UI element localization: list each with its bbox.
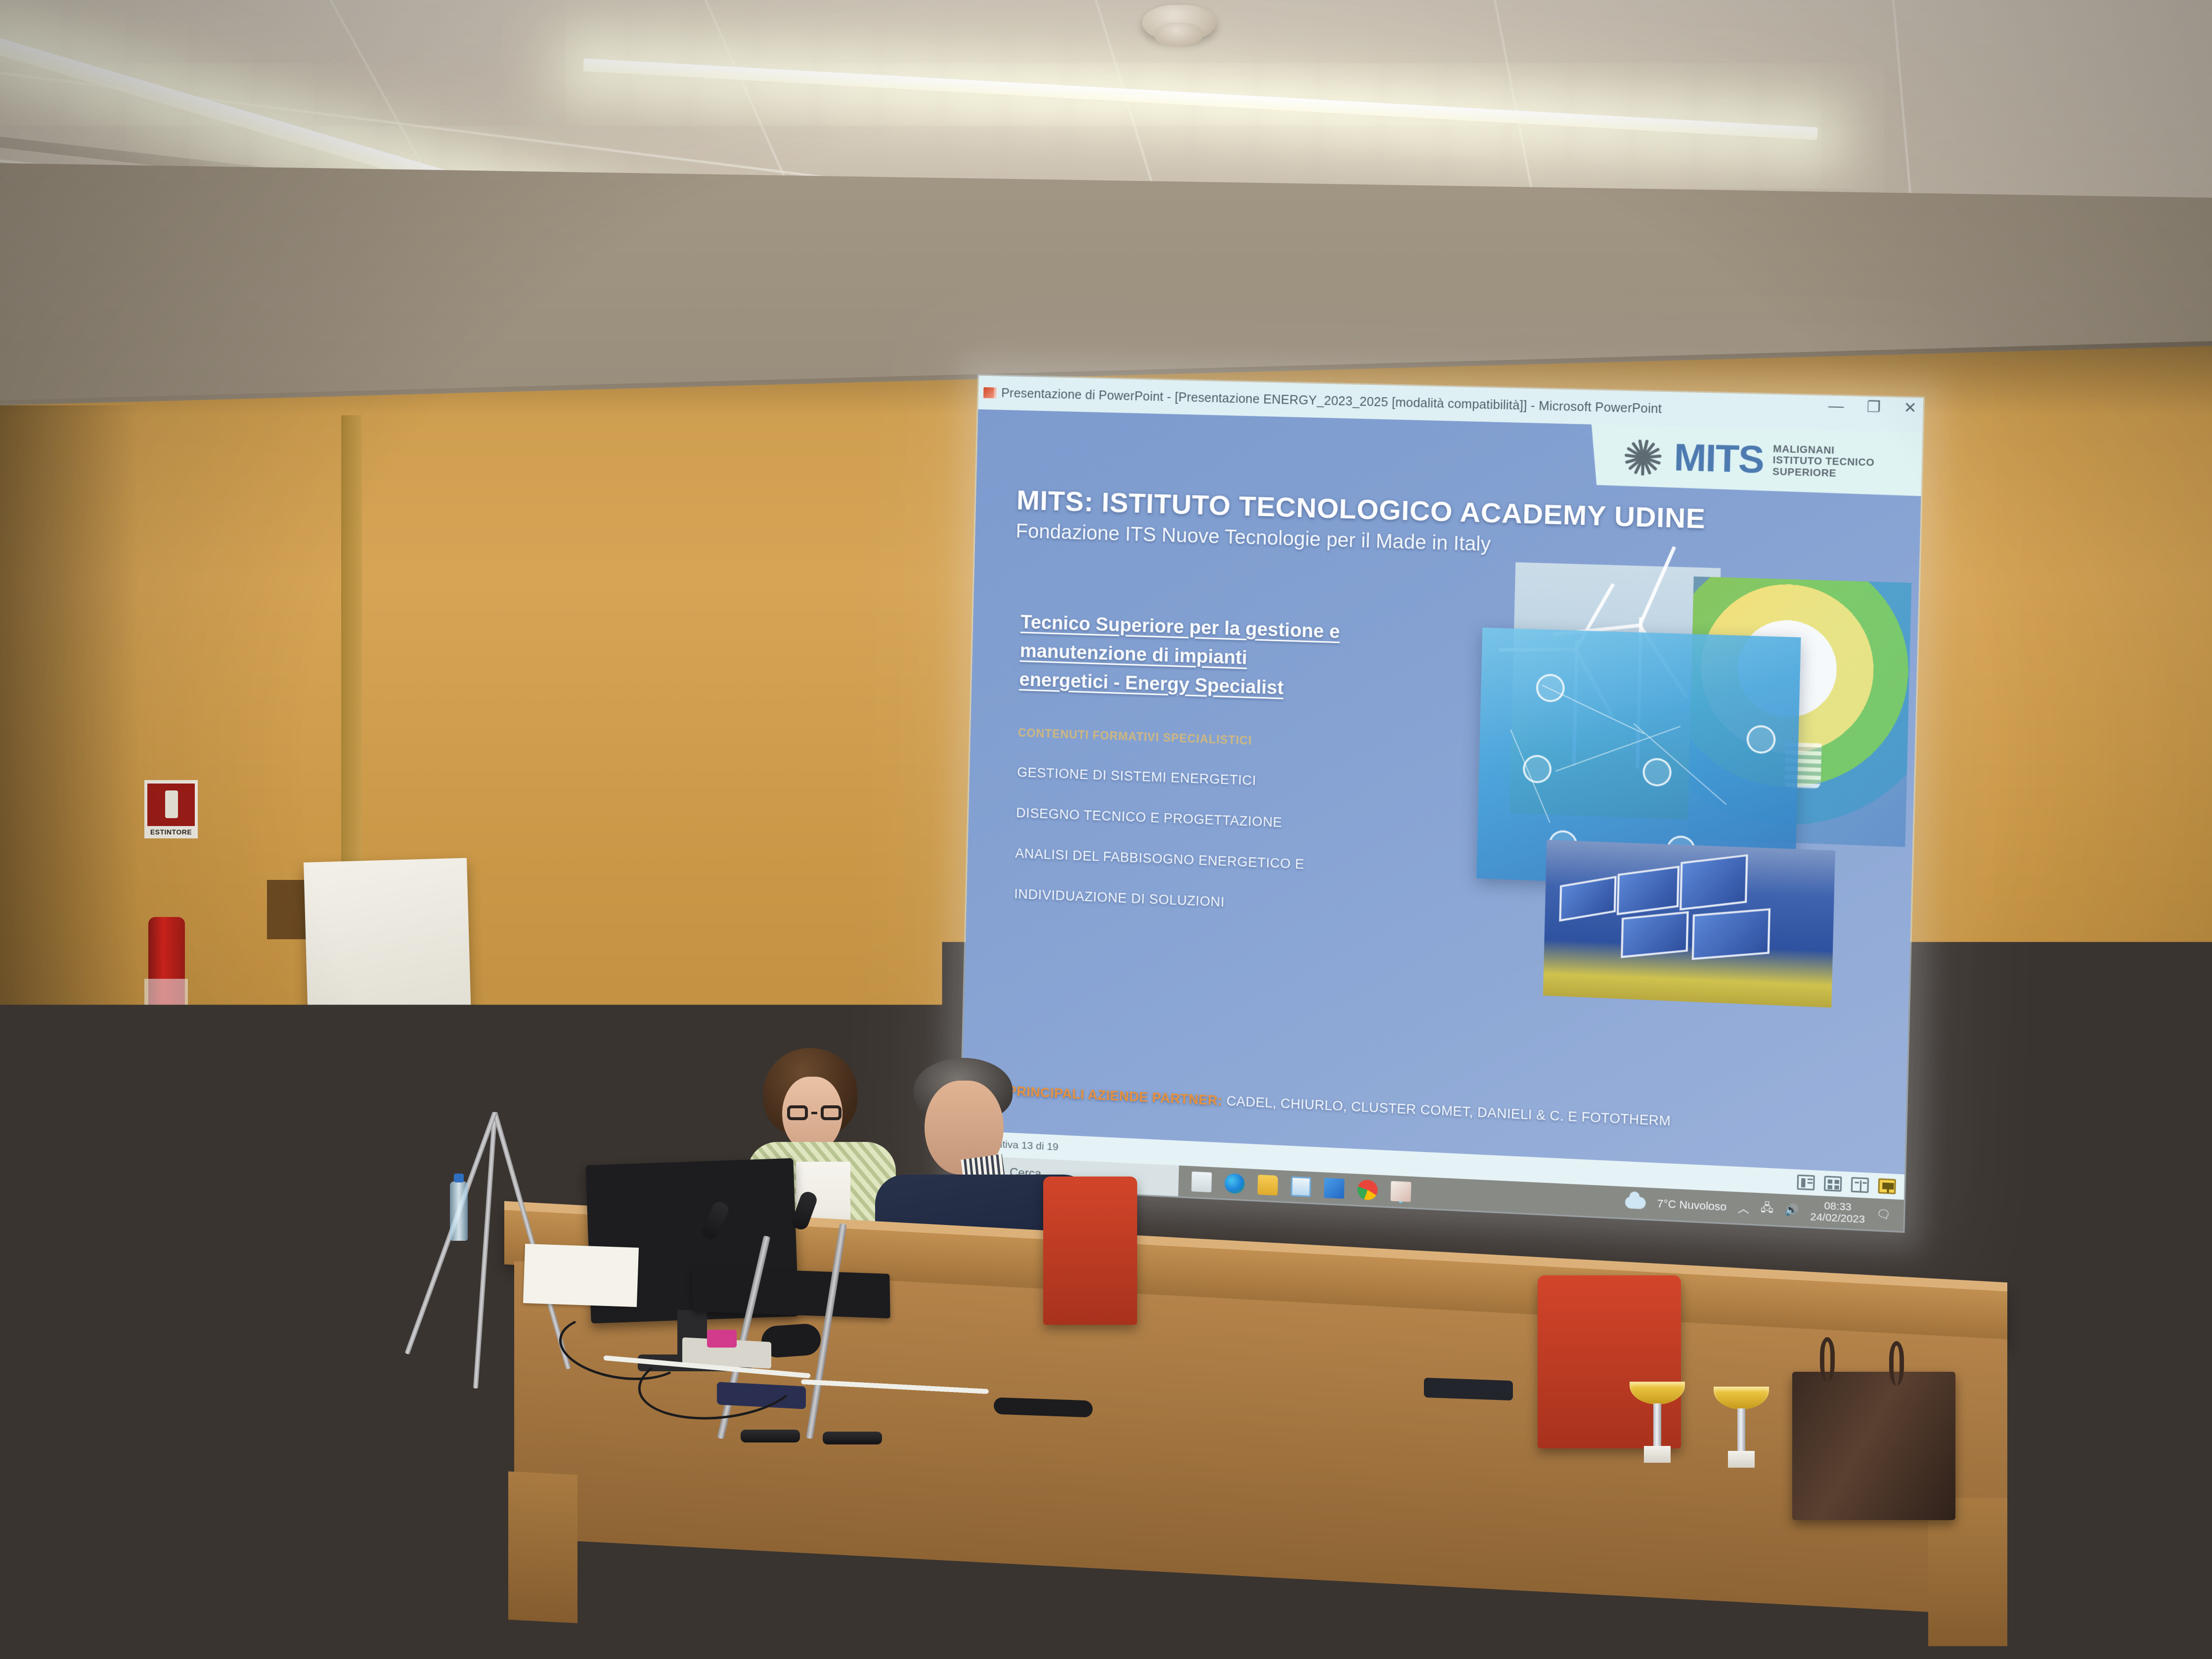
sunburst-icon [1621, 436, 1665, 479]
file-explorer-icon[interactable] [1257, 1175, 1278, 1195]
conference-room-photo: · ESTINTORE Presentazione di PowerPoint … [0, 0, 2212, 1659]
normal-view-button[interactable] [1797, 1175, 1814, 1190]
list-item: ANALISI DEL FABBISOGNO ENERGETICO E [1015, 847, 1375, 874]
network-icon[interactable]: 🖧 [1761, 1199, 1774, 1219]
slideshow-view-button[interactable] [1878, 1178, 1896, 1194]
chevron-up-icon[interactable]: ︿ [1738, 1199, 1750, 1216]
fire-extinguisher-sign: ESTINTORE [144, 780, 198, 838]
section-label: CONTENUTI FORMATIVI SPECIALISTICI [1018, 726, 1252, 747]
taskbar-app-icons[interactable] [1178, 1171, 1411, 1202]
window-controls[interactable]: — ❐ ✕ [1828, 399, 1917, 416]
network-node-icon [1523, 754, 1552, 784]
list-item: DISEGNO TECNICO E PROGETTAZIONE [1016, 806, 1376, 833]
chair-red [1043, 1177, 1137, 1325]
printer-paper-tray [277, 1152, 400, 1176]
clock[interactable]: 08:33 24/02/2023 [1810, 1199, 1865, 1225]
volume-icon[interactable]: 🔊 [1785, 1203, 1799, 1217]
list-item: GESTIONE DI SISTEMI ENERGETICI [1017, 766, 1377, 792]
powerpoint-window: Presentazione di PowerPoint - [Presentaz… [960, 376, 1923, 1231]
minimize-icon[interactable]: — [1828, 399, 1844, 415]
energy-image-collage [1474, 562, 1912, 1011]
partners-line: PRINCIPALI AZIENDE PARTNER: CADEL, CHIUR… [1008, 1084, 1671, 1129]
microsoft-store-icon[interactable] [1290, 1176, 1311, 1197]
keyboard[interactable] [692, 1267, 890, 1318]
paper-sheet [523, 1244, 639, 1307]
flipchart-easel [304, 858, 473, 1075]
restore-icon[interactable]: ❐ [1866, 400, 1881, 415]
trophy-cup [1714, 1387, 1769, 1409]
camera-head [475, 1078, 514, 1112]
slide-13: MITS MALIGNANI ISTITUTO TECNICO SUPERIOR… [961, 409, 1922, 1175]
laptop-stand [1424, 1378, 1513, 1400]
extinguisher-label [144, 979, 188, 1008]
smoke-detector-icon [1142, 5, 1216, 41]
chrome-icon[interactable] [1357, 1179, 1378, 1200]
mits-wordmark: MITS [1674, 441, 1764, 478]
task-view-icon[interactable] [1192, 1172, 1212, 1192]
slide-canvas: MITS MALIGNANI ISTITUTO TECNICO SUPERIOR… [961, 409, 1922, 1175]
network-node-icon [1746, 725, 1776, 754]
weather-label[interactable]: 7°C Nuvoloso [1657, 1197, 1726, 1214]
weather-cloud-icon [1625, 1196, 1646, 1209]
close-icon[interactable]: ✕ [1903, 400, 1917, 416]
projection-screen: Presentazione di PowerPoint - [Presentaz… [960, 376, 1923, 1231]
partners-value: CADEL, CHIURLO, CLUSTER COMET, DANIELI &… [1222, 1093, 1671, 1129]
slide-sorter-button[interactable] [1824, 1176, 1842, 1191]
network-node-icon [1536, 673, 1565, 702]
wall-corner-shade [0, 405, 138, 1147]
list-item: INDIVIDUAZIONE DI SOLUZIONI [1014, 887, 1374, 915]
mail-icon[interactable] [1324, 1178, 1345, 1199]
paper-sheet [248, 1223, 346, 1289]
window-title: Presentazione di PowerPoint - [Presentaz… [1001, 386, 1662, 417]
network-node-icon [1642, 758, 1672, 787]
trophy-stem [1737, 1408, 1745, 1452]
extinguisher-icon [147, 784, 195, 826]
powerpoint-icon[interactable] [1390, 1181, 1411, 1202]
powerpoint-app-icon [983, 387, 996, 398]
extinguisher-sign-label: ESTINTORE [147, 826, 195, 838]
trophy-stem [1653, 1403, 1661, 1447]
microphone-base [741, 1430, 800, 1442]
partners-label: PRINCIPALI AZIENDE PARTNER: [1008, 1084, 1223, 1108]
mits-subtitle: MALIGNANI ISTITUTO TECNICO SUPERIORE [1772, 443, 1875, 480]
reading-view-button[interactable] [1851, 1177, 1869, 1193]
glasses [581, 1079, 636, 1093]
edge-icon[interactable] [1224, 1173, 1245, 1194]
solar-panel-photo [1543, 840, 1835, 1007]
fire-extinguisher [148, 917, 185, 1031]
microphone-base [823, 1432, 882, 1444]
clock-date: 24/02/2023 [1810, 1211, 1865, 1225]
bullet-list: GESTIONE DI SISTEMI ENERGETICI DISEGNO T… [1014, 766, 1377, 943]
glasses [787, 1105, 841, 1120]
notifications-icon[interactable]: 🗨 [1876, 1208, 1891, 1222]
floor [0, 1446, 2212, 1659]
water-bottle [450, 1181, 468, 1241]
course-title: Tecnico Superiore per la gestione e manu… [1019, 609, 1341, 705]
marker-pen [208, 1256, 242, 1263]
trophy-cup [1630, 1382, 1685, 1404]
cable-coil [994, 1397, 1093, 1418]
view-buttons[interactable] [1797, 1170, 1896, 1200]
mits-logo: MITS MALIGNANI ISTITUTO TECNICO SUPERIOR… [1590, 425, 1923, 496]
